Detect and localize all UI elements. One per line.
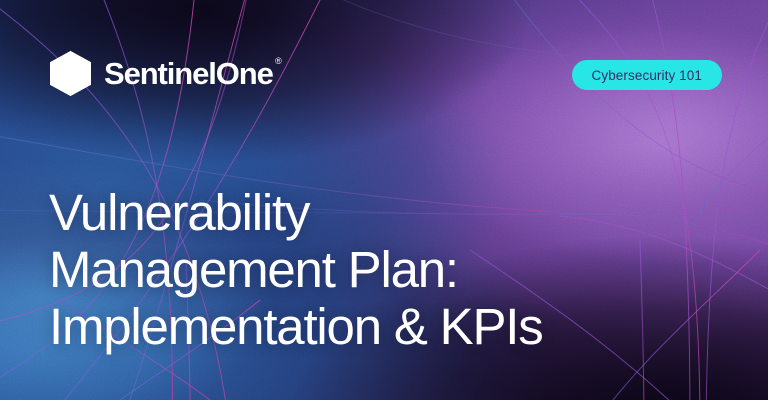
page-title-line-2: Management Plan: [49, 241, 739, 298]
hero-banner: SentinelOne® Cybersecurity 101 Vulnerabi… [0, 0, 768, 400]
trademark-icon: ® [275, 57, 282, 66]
page-title-line-3: Implementation & KPIs [49, 298, 739, 355]
brand-header: SentinelOne® [50, 51, 273, 96]
page-title-line-1: Vulnerability [49, 184, 739, 241]
brand-wordmark-text: SentinelOne [104, 56, 273, 91]
page-title: Vulnerability Management Plan: Implement… [49, 184, 739, 355]
category-badge[interactable]: Cybersecurity 101 [572, 60, 723, 90]
brand-wordmark: SentinelOne® [104, 58, 273, 89]
category-badge-label: Cybersecurity 101 [592, 68, 703, 83]
sentinelone-hex-logo-icon [50, 51, 91, 96]
